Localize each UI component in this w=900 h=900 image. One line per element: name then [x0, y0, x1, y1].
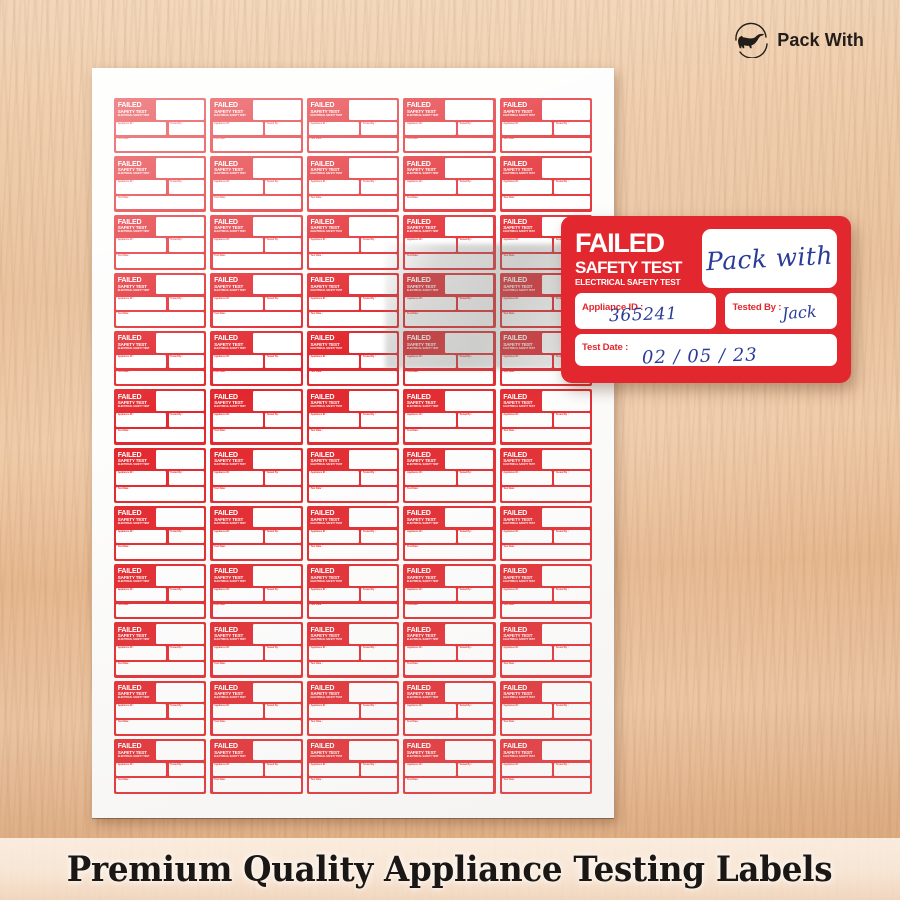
sheet-label-bottom-row: Test Date :: [309, 662, 397, 675]
sheet-label-bottom-row: Test Date :: [309, 429, 397, 442]
sheet-label-bottom-row: Test Date :: [309, 312, 397, 325]
sheet-signature-box: [542, 158, 590, 178]
sheet-label-bottom-row: Test Date :: [502, 720, 590, 733]
sheet-appliance-id-caption: Appliance ID :: [311, 414, 327, 417]
sheet-label: FAILEDSAFETY TESTELECTRICAL SAFETY TESTA…: [500, 739, 592, 794]
sheet-label-heading: FAILEDSAFETY TESTELECTRICAL SAFETY TEST: [405, 217, 443, 237]
sheet-signature-box: [349, 333, 397, 353]
sheet-test-date-field: Test Date :: [502, 662, 590, 675]
sheet-appliance-id-caption: Appliance ID :: [214, 356, 230, 359]
sheet-appliance-id-field: Appliance ID :: [502, 355, 552, 368]
sheet-appliance-id-field: Appliance ID :: [213, 355, 263, 368]
sheet-label-middle-row: Appliance ID :Tested By :: [502, 763, 590, 776]
sheet-label-heading: FAILEDSAFETY TESTELECTRICAL SAFETY TEST: [502, 683, 540, 703]
sheet-tested-by-caption: Tested By :: [170, 647, 183, 650]
sheet-tested-by-caption: Tested By :: [363, 589, 376, 592]
sheet-signature-box: [445, 158, 493, 178]
sheet-label-middle-row: Appliance ID :Tested By :: [213, 646, 301, 659]
sheet-signature-box: [445, 100, 493, 120]
sheet-label-bottom-row: Test Date :: [405, 429, 493, 442]
sheet-tested-by-field: Tested By :: [554, 180, 590, 193]
sheet-tested-by-field: Tested By :: [169, 704, 205, 717]
sheet-tested-by-caption: Tested By :: [170, 531, 183, 534]
sheet-label-top-row: FAILEDSAFETY TESTELECTRICAL SAFETY TEST: [213, 508, 301, 528]
sheet-signature-box: [445, 624, 493, 644]
sheet-appliance-id-field: Appliance ID :: [405, 704, 455, 717]
sheet-label: FAILEDSAFETY TESTELECTRICAL SAFETY TESTA…: [403, 681, 495, 736]
sheet-label: FAILEDSAFETY TESTELECTRICAL SAFETY TESTA…: [210, 98, 302, 153]
sheet-title-electrical-safety-test: ELECTRICAL SAFETY TEST: [407, 115, 443, 118]
sheet-label-top-row: FAILEDSAFETY TESTELECTRICAL SAFETY TEST: [116, 624, 204, 644]
sheet-tested-by-field: Tested By :: [361, 471, 397, 484]
sheet-test-date-caption: Test Date :: [214, 721, 226, 724]
sheet-test-date-field: Test Date :: [116, 604, 204, 617]
sheet-tested-by-caption: Tested By :: [556, 472, 569, 475]
hero-signature-box: Pack with: [702, 229, 837, 288]
sheet-title-electrical-safety-test: ELECTRICAL SAFETY TEST: [407, 697, 443, 700]
sheet-label-bottom-row: Test Date :: [213, 138, 301, 151]
sheet-tested-by-caption: Tested By :: [170, 705, 183, 708]
sheet-tested-by-caption: Tested By :: [267, 647, 280, 650]
sheet-title-electrical-safety-test: ELECTRICAL SAFETY TEST: [407, 406, 443, 409]
sheet-tested-by-caption: Tested By :: [363, 647, 376, 650]
sheet-appliance-id-caption: Appliance ID :: [214, 298, 230, 301]
sheet-appliance-id-field: Appliance ID :: [116, 588, 166, 601]
sheet-test-date-field: Test Date :: [405, 254, 493, 267]
sheet-label-top-row: FAILEDSAFETY TESTELECTRICAL SAFETY TEST: [116, 333, 204, 353]
sheet-appliance-id-caption: Appliance ID :: [214, 472, 230, 475]
sheet-label-middle-row: Appliance ID :Tested By :: [116, 355, 204, 368]
sheet-title-electrical-safety-test: ELECTRICAL SAFETY TEST: [407, 581, 443, 584]
sheet-signature-box: [349, 566, 397, 586]
sheet-label-bottom-row: Test Date :: [405, 545, 493, 558]
sheet-tested-by-field: Tested By :: [361, 413, 397, 426]
sheet-appliance-id-field: Appliance ID :: [309, 646, 359, 659]
sheet-test-date-caption: Test Date :: [311, 138, 323, 141]
sheet-tested-by-field: Tested By :: [265, 704, 301, 717]
sheet-label: FAILEDSAFETY TESTELECTRICAL SAFETY TESTA…: [114, 506, 206, 561]
sheet-label-bottom-row: Test Date :: [116, 720, 204, 733]
sheet-label-bottom-row: Test Date :: [213, 371, 301, 384]
hero-test-date-caption: Test Date :: [582, 343, 628, 353]
sheet-title-electrical-safety-test: ELECTRICAL SAFETY TEST: [118, 464, 154, 467]
sheet-signature-box: [445, 391, 493, 411]
sheet-label-middle-row: Appliance ID :Tested By :: [405, 471, 493, 484]
sheet-label-middle-row: Appliance ID :Tested By :: [502, 180, 590, 193]
sheet-label-middle-row: Appliance ID :Tested By :: [405, 297, 493, 310]
sheet-test-date-field: Test Date :: [405, 720, 493, 733]
sheet-label-heading: FAILEDSAFETY TESTELECTRICAL SAFETY TEST: [213, 217, 251, 237]
sheet-title-electrical-safety-test: ELECTRICAL SAFETY TEST: [214, 464, 250, 467]
sheet-signature-box: [349, 683, 397, 703]
sheet-appliance-id-field: Appliance ID :: [405, 355, 455, 368]
sheet-tested-by-caption: Tested By :: [267, 414, 280, 417]
sheet-tested-by-caption: Tested By :: [170, 764, 183, 767]
sheet-label-middle-row: Appliance ID :Tested By :: [502, 530, 590, 543]
sheet-test-date-field: Test Date :: [309, 545, 397, 558]
sheet-label-top-row: FAILEDSAFETY TESTELECTRICAL SAFETY TEST: [309, 100, 397, 120]
buffalo-silhouette-icon: [733, 22, 773, 58]
sheet-label: FAILEDSAFETY TESTELECTRICAL SAFETY TESTA…: [210, 389, 302, 444]
sheet-label-middle-row: Appliance ID :Tested By :: [309, 646, 397, 659]
sheet-tested-by-field: Tested By :: [458, 471, 494, 484]
sheet-tested-by-field: Tested By :: [458, 588, 494, 601]
sheet-tested-by-field: Tested By :: [361, 297, 397, 310]
sheet-appliance-id-field: Appliance ID :: [309, 413, 359, 426]
sheet-label-middle-row: Appliance ID :Tested By :: [309, 297, 397, 310]
sheet-label-middle-row: Appliance ID :Tested By :: [116, 763, 204, 776]
sheet-test-date-caption: Test Date :: [214, 430, 226, 433]
sheet-signature-box: [542, 624, 590, 644]
sheet-test-date-field: Test Date :: [502, 487, 590, 500]
sheet-title-electrical-safety-test: ELECTRICAL SAFETY TEST: [310, 523, 346, 526]
sheet-label-top-row: FAILEDSAFETY TESTELECTRICAL SAFETY TEST: [213, 450, 301, 470]
sheet-label-heading: FAILEDSAFETY TESTELECTRICAL SAFETY TEST: [405, 391, 443, 411]
sheet-test-date-field: Test Date :: [309, 429, 397, 442]
sheet-label: FAILEDSAFETY TESTELECTRICAL SAFETY TESTA…: [403, 622, 495, 677]
sheet-tested-by-caption: Tested By :: [363, 123, 376, 126]
sheet-label-top-row: FAILEDSAFETY TESTELECTRICAL SAFETY TEST: [309, 275, 397, 295]
sheet-label-top-row: FAILEDSAFETY TESTELECTRICAL SAFETY TEST: [405, 566, 493, 586]
sheet-label-bottom-row: Test Date :: [405, 196, 493, 209]
sheet-test-date-caption: Test Date :: [311, 721, 323, 724]
sheet-tested-by-caption: Tested By :: [556, 647, 569, 650]
sheet-test-date-field: Test Date :: [405, 545, 493, 558]
sheet-tested-by-caption: Tested By :: [363, 239, 376, 242]
sheet-signature-box: [253, 624, 301, 644]
sheet-title-electrical-safety-test: ELECTRICAL SAFETY TEST: [503, 697, 539, 700]
sheet-label-middle-row: Appliance ID :Tested By :: [213, 471, 301, 484]
sheet-label-heading: FAILEDSAFETY TESTELECTRICAL SAFETY TEST: [213, 566, 251, 586]
sheet-label-top-row: FAILEDSAFETY TESTELECTRICAL SAFETY TEST: [405, 333, 493, 353]
sheet-signature-box: [156, 100, 204, 120]
sheet-label-bottom-row: Test Date :: [116, 254, 204, 267]
sheet-title-electrical-safety-test: ELECTRICAL SAFETY TEST: [407, 639, 443, 642]
sheet-test-date-caption: Test Date :: [407, 197, 419, 200]
hero-title-electrical-safety-test: ELECTRICAL SAFETY TEST: [575, 279, 693, 287]
sheet-label: FAILEDSAFETY TESTELECTRICAL SAFETY TESTA…: [114, 98, 206, 153]
sheet-test-date-caption: Test Date :: [407, 663, 419, 666]
sheet-title-electrical-safety-test: ELECTRICAL SAFETY TEST: [407, 173, 443, 176]
sheet-label-bottom-row: Test Date :: [116, 778, 204, 791]
sheet-signature-box: [445, 275, 493, 295]
sheet-test-date-caption: Test Date :: [311, 546, 323, 549]
sheet-appliance-id-caption: Appliance ID :: [407, 589, 423, 592]
sheet-appliance-id-caption: Appliance ID :: [118, 298, 134, 301]
sheet-tested-by-field: Tested By :: [361, 530, 397, 543]
sheet-test-date-field: Test Date :: [405, 662, 493, 675]
sheet-label-heading: FAILEDSAFETY TESTELECTRICAL SAFETY TEST: [502, 158, 540, 178]
sheet-label-middle-row: Appliance ID :Tested By :: [309, 588, 397, 601]
sheet-test-date-field: Test Date :: [309, 778, 397, 791]
sheet-label-top-row: FAILEDSAFETY TESTELECTRICAL SAFETY TEST: [502, 391, 590, 411]
hero-label-bottom-row: Test Date : 02 / 05 / 23: [575, 334, 837, 370]
sheet-test-date-caption: Test Date :: [503, 663, 515, 666]
sheet-label-middle-row: Appliance ID :Tested By :: [213, 297, 301, 310]
sheet-tested-by-field: Tested By :: [169, 413, 205, 426]
sheet-test-date-field: Test Date :: [213, 371, 301, 384]
sheet-label-heading: FAILEDSAFETY TESTELECTRICAL SAFETY TEST: [309, 275, 347, 295]
sheet-test-date-caption: Test Date :: [503, 138, 515, 141]
sheet-label-top-row: FAILEDSAFETY TESTELECTRICAL SAFETY TEST: [116, 741, 204, 761]
sheet-test-date-caption: Test Date :: [118, 371, 130, 374]
sheet-label-bottom-row: Test Date :: [116, 487, 204, 500]
sheet-tested-by-field: Tested By :: [361, 646, 397, 659]
caption-band: Premium Quality Appliance Testing Labels: [0, 838, 900, 900]
sheet-signature-box: [349, 100, 397, 120]
sheet-signature-box: [445, 508, 493, 528]
sheet-tested-by-caption: Tested By :: [267, 531, 280, 534]
sheet-appliance-id-caption: Appliance ID :: [311, 705, 327, 708]
hero-title-failed: FAILED: [575, 230, 693, 257]
sheet-test-date-caption: Test Date :: [311, 313, 323, 316]
sheet-test-date-field: Test Date :: [213, 604, 301, 617]
hero-test-date-value: 02 / 05 / 23: [642, 346, 758, 366]
sheet-label-top-row: FAILEDSAFETY TESTELECTRICAL SAFETY TEST: [502, 683, 590, 703]
sheet-appliance-id-caption: Appliance ID :: [503, 123, 519, 126]
sheet-tested-by-field: Tested By :: [554, 646, 590, 659]
sheet-tested-by-caption: Tested By :: [556, 414, 569, 417]
sheet-signature-box: [156, 450, 204, 470]
sheet-appliance-id-field: Appliance ID :: [213, 297, 263, 310]
sheet-tested-by-caption: Tested By :: [459, 181, 472, 184]
sheet-label-top-row: FAILEDSAFETY TESTELECTRICAL SAFETY TEST: [309, 217, 397, 237]
sheet-tested-by-field: Tested By :: [169, 297, 205, 310]
sheet-test-date-caption: Test Date :: [311, 430, 323, 433]
sheet-title-electrical-safety-test: ELECTRICAL SAFETY TEST: [310, 231, 346, 234]
sheet-appliance-id-caption: Appliance ID :: [214, 181, 230, 184]
sheet-appliance-id-field: Appliance ID :: [116, 355, 166, 368]
sheet-test-date-caption: Test Date :: [118, 663, 130, 666]
sheet-title-electrical-safety-test: ELECTRICAL SAFETY TEST: [407, 756, 443, 759]
sheet-label-top-row: FAILEDSAFETY TESTELECTRICAL SAFETY TEST: [213, 391, 301, 411]
sheet-tested-by-field: Tested By :: [361, 704, 397, 717]
sheet-appliance-id-field: Appliance ID :: [213, 530, 263, 543]
sheet-test-date-caption: Test Date :: [407, 604, 419, 607]
sheet-label-top-row: FAILEDSAFETY TESTELECTRICAL SAFETY TEST: [405, 683, 493, 703]
sheet-appliance-id-field: Appliance ID :: [405, 180, 455, 193]
sheet-appliance-id-caption: Appliance ID :: [503, 647, 519, 650]
sheet-tested-by-caption: Tested By :: [556, 705, 569, 708]
sheet-appliance-id-field: Appliance ID :: [213, 471, 263, 484]
sheet-label-top-row: FAILEDSAFETY TESTELECTRICAL SAFETY TEST: [116, 566, 204, 586]
sheet-tested-by-caption: Tested By :: [459, 705, 472, 708]
sheet-label-bottom-row: Test Date :: [309, 778, 397, 791]
sheet-signature-box: [542, 391, 590, 411]
sheet-label: FAILEDSAFETY TESTELECTRICAL SAFETY TESTA…: [114, 215, 206, 270]
sheet-appliance-id-caption: Appliance ID :: [311, 764, 327, 767]
sheet-label-bottom-row: Test Date :: [309, 254, 397, 267]
sheet-label-top-row: FAILEDSAFETY TESTELECTRICAL SAFETY TEST: [502, 741, 590, 761]
sheet-test-date-caption: Test Date :: [407, 779, 419, 782]
sheet-test-date-caption: Test Date :: [214, 663, 226, 666]
sheet-label-top-row: FAILEDSAFETY TESTELECTRICAL SAFETY TEST: [309, 683, 397, 703]
sheet-label-heading: FAILEDSAFETY TESTELECTRICAL SAFETY TEST: [309, 450, 347, 470]
sheet-label-heading: FAILEDSAFETY TESTELECTRICAL SAFETY TEST: [309, 566, 347, 586]
sheet-label-middle-row: Appliance ID :Tested By :: [213, 355, 301, 368]
sheet-title-electrical-safety-test: ELECTRICAL SAFETY TEST: [503, 231, 539, 234]
sheet-test-date-caption: Test Date :: [118, 546, 130, 549]
sheet-tested-by-field: Tested By :: [265, 471, 301, 484]
sheet-test-date-field: Test Date :: [405, 429, 493, 442]
sheet-label-top-row: FAILEDSAFETY TESTELECTRICAL SAFETY TEST: [309, 391, 397, 411]
sheet-appliance-id-caption: Appliance ID :: [503, 298, 519, 301]
sheet-test-date-field: Test Date :: [213, 429, 301, 442]
sheet-title-electrical-safety-test: ELECTRICAL SAFETY TEST: [407, 464, 443, 467]
sheet-label-top-row: FAILEDSAFETY TESTELECTRICAL SAFETY TEST: [309, 450, 397, 470]
sheet-tested-by-caption: Tested By :: [267, 123, 280, 126]
sheet-appliance-id-field: Appliance ID :: [502, 413, 552, 426]
sheet-appliance-id-caption: Appliance ID :: [503, 589, 519, 592]
sheet-label: FAILEDSAFETY TESTELECTRICAL SAFETY TESTA…: [500, 506, 592, 561]
sheet-appliance-id-field: Appliance ID :: [405, 238, 455, 251]
sheet-signature-box: [156, 683, 204, 703]
sheet-appliance-id-caption: Appliance ID :: [311, 123, 327, 126]
sheet-label-heading: FAILEDSAFETY TESTELECTRICAL SAFETY TEST: [213, 391, 251, 411]
sheet-signature-box: [253, 566, 301, 586]
sheet-label-top-row: FAILEDSAFETY TESTELECTRICAL SAFETY TEST: [405, 217, 493, 237]
sheet-test-date-field: Test Date :: [502, 196, 590, 209]
sheet-test-date-caption: Test Date :: [214, 604, 226, 607]
sheet-tested-by-field: Tested By :: [361, 238, 397, 251]
sheet-signature-box: [253, 450, 301, 470]
sheet-tested-by-field: Tested By :: [361, 588, 397, 601]
sheet-test-date-field: Test Date :: [213, 138, 301, 151]
sheet-label-top-row: FAILEDSAFETY TESTELECTRICAL SAFETY TEST: [502, 624, 590, 644]
sheet-test-date-field: Test Date :: [502, 138, 590, 151]
sheet-label: FAILEDSAFETY TESTELECTRICAL SAFETY TESTA…: [210, 331, 302, 386]
sheet-title-electrical-safety-test: ELECTRICAL SAFETY TEST: [118, 348, 154, 351]
sheet-title-electrical-safety-test: ELECTRICAL SAFETY TEST: [407, 523, 443, 526]
sheet-label-heading: FAILEDSAFETY TESTELECTRICAL SAFETY TEST: [309, 158, 347, 178]
sheet-appliance-id-caption: Appliance ID :: [118, 123, 134, 126]
sheet-title-electrical-safety-test: ELECTRICAL SAFETY TEST: [310, 756, 346, 759]
sheet-label-middle-row: Appliance ID :Tested By :: [116, 588, 204, 601]
sheet-appliance-id-caption: Appliance ID :: [214, 589, 230, 592]
sheet-label-heading: FAILEDSAFETY TESTELECTRICAL SAFETY TEST: [309, 741, 347, 761]
sheet-label-top-row: FAILEDSAFETY TESTELECTRICAL SAFETY TEST: [116, 158, 204, 178]
sheet-test-date-caption: Test Date :: [407, 313, 419, 316]
sheet-label: FAILEDSAFETY TESTELECTRICAL SAFETY TESTA…: [114, 273, 206, 328]
hero-signature-text: Pack with: [705, 243, 833, 275]
sheet-test-date-field: Test Date :: [309, 254, 397, 267]
sheet-label: FAILEDSAFETY TESTELECTRICAL SAFETY TESTA…: [500, 389, 592, 444]
sheet-test-date-field: Test Date :: [405, 604, 493, 617]
sheet-label-bottom-row: Test Date :: [405, 604, 493, 617]
sheet-label-heading: FAILEDSAFETY TESTELECTRICAL SAFETY TEST: [116, 566, 154, 586]
sheet-label: FAILEDSAFETY TESTELECTRICAL SAFETY TESTA…: [403, 156, 495, 211]
sheet-label: FAILEDSAFETY TESTELECTRICAL SAFETY TESTA…: [114, 389, 206, 444]
sheet-title-electrical-safety-test: ELECTRICAL SAFETY TEST: [310, 115, 346, 118]
sheet-test-date-caption: Test Date :: [118, 779, 130, 782]
sheet-label-middle-row: Appliance ID :Tested By :: [213, 238, 301, 251]
sheet-test-date-caption: Test Date :: [311, 371, 323, 374]
sheet-label-bottom-row: Test Date :: [116, 662, 204, 675]
sheet-tested-by-field: Tested By :: [361, 355, 397, 368]
hero-label: FAILED SAFETY TEST ELECTRICAL SAFETY TES…: [561, 216, 851, 383]
sheet-title-electrical-safety-test: ELECTRICAL SAFETY TEST: [310, 639, 346, 642]
sheet-appliance-id-caption: Appliance ID :: [503, 472, 519, 475]
sheet-label-bottom-row: Test Date :: [405, 487, 493, 500]
hero-tested-by-field: Tested By : Jack: [725, 293, 837, 329]
sheet-signature-box: [349, 217, 397, 237]
sheet-label-heading: FAILEDSAFETY TESTELECTRICAL SAFETY TEST: [213, 508, 251, 528]
sheet-appliance-id-field: Appliance ID :: [213, 180, 263, 193]
sheet-title-electrical-safety-test: ELECTRICAL SAFETY TEST: [407, 290, 443, 293]
sheet-appliance-id-field: Appliance ID :: [502, 530, 552, 543]
sheet-signature-box: [253, 158, 301, 178]
sheet-label-top-row: FAILEDSAFETY TESTELECTRICAL SAFETY TEST: [405, 450, 493, 470]
label-sheet: FAILEDSAFETY TESTELECTRICAL SAFETY TESTA…: [92, 68, 614, 818]
sheet-test-date-caption: Test Date :: [118, 138, 130, 141]
sheet-tested-by-caption: Tested By :: [363, 705, 376, 708]
sheet-label-top-row: FAILEDSAFETY TESTELECTRICAL SAFETY TEST: [213, 275, 301, 295]
sheet-signature-box: [445, 741, 493, 761]
sheet-label: FAILEDSAFETY TESTELECTRICAL SAFETY TESTA…: [307, 215, 399, 270]
sheet-test-date-field: Test Date :: [213, 662, 301, 675]
sheet-title-electrical-safety-test: ELECTRICAL SAFETY TEST: [310, 406, 346, 409]
sheet-tested-by-caption: Tested By :: [556, 764, 569, 767]
sheet-tested-by-field: Tested By :: [554, 413, 590, 426]
sheet-test-date-caption: Test Date :: [503, 197, 515, 200]
sheet-label-middle-row: Appliance ID :Tested By :: [309, 180, 397, 193]
sheet-test-date-caption: Test Date :: [311, 488, 323, 491]
sheet-appliance-id-field: Appliance ID :: [405, 530, 455, 543]
sheet-test-date-caption: Test Date :: [407, 255, 419, 258]
sheet-label-middle-row: Appliance ID :Tested By :: [309, 122, 397, 135]
sheet-test-date-caption: Test Date :: [407, 138, 419, 141]
sheet-label-bottom-row: Test Date :: [213, 720, 301, 733]
sheet-signature-box: [349, 391, 397, 411]
sheet-appliance-id-field: Appliance ID :: [309, 297, 359, 310]
sheet-label-heading: FAILEDSAFETY TESTELECTRICAL SAFETY TEST: [309, 100, 347, 120]
sheet-title-electrical-safety-test: ELECTRICAL SAFETY TEST: [310, 697, 346, 700]
sheet-label-middle-row: Appliance ID :Tested By :: [309, 471, 397, 484]
sheet-title-electrical-safety-test: ELECTRICAL SAFETY TEST: [503, 581, 539, 584]
hero-tested-by-caption: Tested By :: [732, 302, 781, 313]
sheet-test-date-caption: Test Date :: [503, 604, 515, 607]
sheet-label-heading: FAILEDSAFETY TESTELECTRICAL SAFETY TEST: [213, 450, 251, 470]
sheet-appliance-id-field: Appliance ID :: [309, 763, 359, 776]
sheet-tested-by-field: Tested By :: [458, 646, 494, 659]
sheet-label-top-row: FAILEDSAFETY TESTELECTRICAL SAFETY TEST: [116, 450, 204, 470]
sheet-label: FAILEDSAFETY TESTELECTRICAL SAFETY TESTA…: [210, 564, 302, 619]
sheet-tested-by-field: Tested By :: [554, 704, 590, 717]
sheet-label-bottom-row: Test Date :: [309, 138, 397, 151]
sheet-label-bottom-row: Test Date :: [502, 662, 590, 675]
sheet-appliance-id-field: Appliance ID :: [502, 704, 552, 717]
sheet-label-middle-row: Appliance ID :Tested By :: [116, 646, 204, 659]
sheet-appliance-id-field: Appliance ID :: [213, 238, 263, 251]
sheet-appliance-id-caption: Appliance ID :: [407, 764, 423, 767]
sheet-appliance-id-caption: Appliance ID :: [118, 356, 134, 359]
sheet-label-bottom-row: Test Date :: [405, 138, 493, 151]
sheet-label-middle-row: Appliance ID :Tested By :: [405, 122, 493, 135]
sheet-signature-box: [349, 741, 397, 761]
sheet-test-date-field: Test Date :: [213, 720, 301, 733]
sheet-label-top-row: FAILEDSAFETY TESTELECTRICAL SAFETY TEST: [405, 741, 493, 761]
sheet-appliance-id-field: Appliance ID :: [309, 530, 359, 543]
sheet-tested-by-field: Tested By :: [169, 122, 205, 135]
sheet-label-heading: FAILEDSAFETY TESTELECTRICAL SAFETY TEST: [405, 683, 443, 703]
sheet-appliance-id-field: Appliance ID :: [405, 122, 455, 135]
sheet-label-middle-row: Appliance ID :Tested By :: [213, 180, 301, 193]
sheet-tested-by-caption: Tested By :: [459, 589, 472, 592]
sheet-label-middle-row: Appliance ID :Tested By :: [116, 180, 204, 193]
sheet-signature-box: [156, 508, 204, 528]
sheet-test-date-field: Test Date :: [405, 196, 493, 209]
sheet-label-heading: FAILEDSAFETY TESTELECTRICAL SAFETY TEST: [309, 508, 347, 528]
